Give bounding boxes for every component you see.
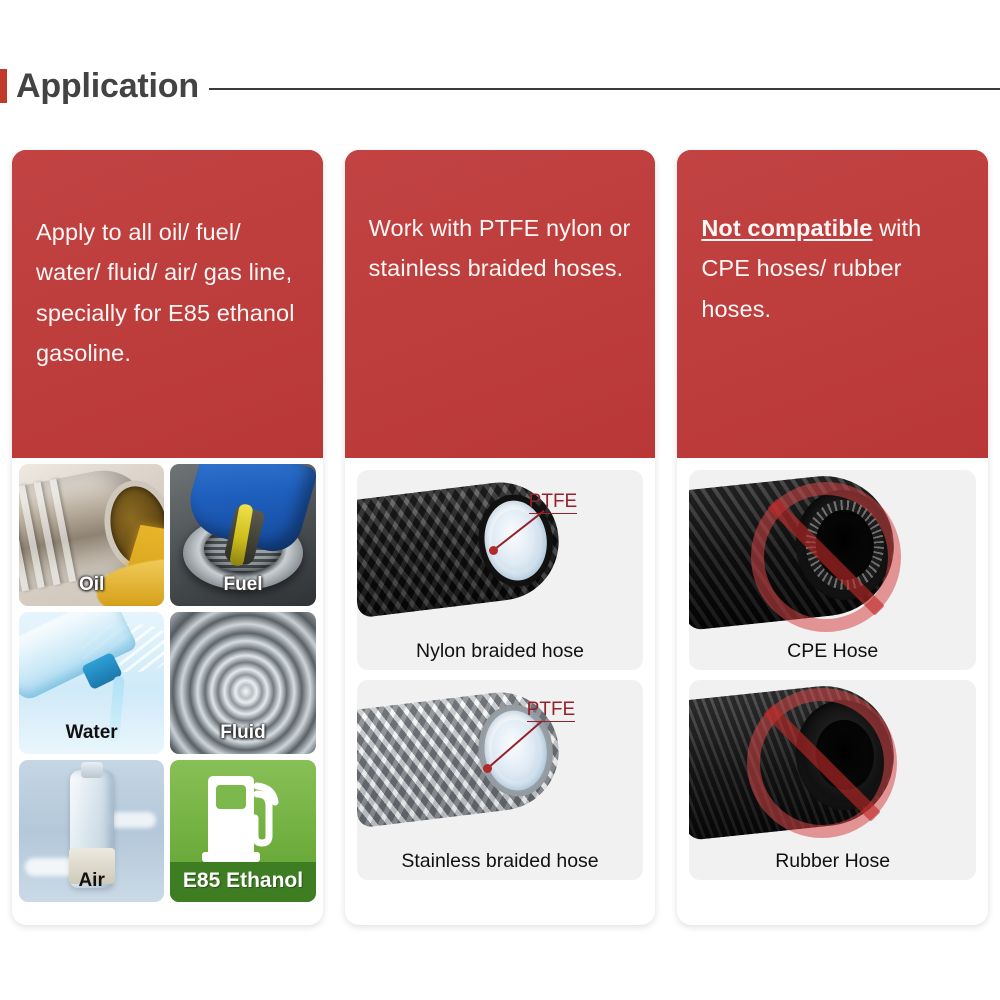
page-title: Application — [16, 69, 199, 103]
tile-air: Air — [19, 760, 164, 902]
tile-fluid: Fluid — [170, 612, 315, 754]
tile-label-fluid: Fluid — [220, 722, 265, 754]
tile-fuel: Fuel — [170, 464, 315, 606]
application-tile-grid: Oil Fuel — [18, 464, 317, 902]
photo-stainless-braided-hose: PTFE Stainless braided hose — [357, 680, 644, 880]
caption-rubber-hose: Rubber Hose — [689, 850, 976, 873]
card-compatible-headline: Work with PTFE nylon or stainless braide… — [345, 150, 656, 458]
card-application-text: Apply to all oil/ fuel/ water/ fluid/ ai… — [36, 219, 295, 366]
photo-cpe-hose: CPE Hose — [689, 470, 976, 670]
caption-nylon-braided-hose: Nylon braided hose — [357, 640, 644, 663]
card-application: Apply to all oil/ fuel/ water/ fluid/ ai… — [12, 150, 323, 925]
tile-label-fuel: Fuel — [223, 574, 262, 606]
cards-row: Apply to all oil/ fuel/ water/ fluid/ ai… — [12, 150, 988, 925]
tile-label-water: Water — [66, 722, 118, 754]
card-compatible-text: Work with PTFE nylon or stainless braide… — [369, 215, 631, 281]
photo-rubber-hose: Rubber Hose — [689, 680, 976, 880]
tile-water: Water — [19, 612, 164, 754]
tile-label-air: Air — [78, 870, 104, 902]
card-incompatible-headline: Not compatible with CPE hoses/ rubber ho… — [677, 150, 988, 458]
ptfe-callout-label: PTFE — [527, 700, 576, 722]
header-accent-bar — [0, 69, 7, 103]
photo-nylon-braided-hose: PTFE Nylon braided hose — [357, 470, 644, 670]
card-application-body: Oil Fuel — [12, 458, 323, 925]
card-incompatible: Not compatible with CPE hoses/ rubber ho… — [677, 150, 988, 925]
tile-oil: Oil — [19, 464, 164, 606]
caption-stainless-braided-hose: Stainless braided hose — [357, 850, 644, 873]
application-infographic: Application Apply to all oil/ fuel/ wate… — [0, 0, 1000, 1000]
header-divider-line — [209, 88, 1000, 90]
card-incompatible-emphasis: Not compatible — [701, 215, 872, 241]
section-header: Application — [0, 62, 1000, 110]
ptfe-marker-dot — [483, 764, 492, 773]
card-incompatible-body: CPE Hose Rubber Hose — [677, 458, 988, 925]
fuel-pump-icon — [200, 772, 286, 864]
caption-cpe-hose: CPE Hose — [689, 640, 976, 663]
ptfe-callout-label: PTFE — [529, 492, 578, 514]
card-compatible-body: PTFE Nylon braided hose PTFE Stainless b… — [345, 458, 656, 925]
card-compatible: Work with PTFE nylon or stainless braide… — [345, 150, 656, 925]
ptfe-marker-dot — [489, 546, 498, 555]
tile-e85-ethanol: E85 Ethanol — [170, 760, 315, 902]
card-application-headline: Apply to all oil/ fuel/ water/ fluid/ ai… — [12, 150, 323, 458]
tile-label-oil: Oil — [79, 574, 104, 606]
tile-label-e85-ethanol: E85 Ethanol — [183, 869, 303, 902]
